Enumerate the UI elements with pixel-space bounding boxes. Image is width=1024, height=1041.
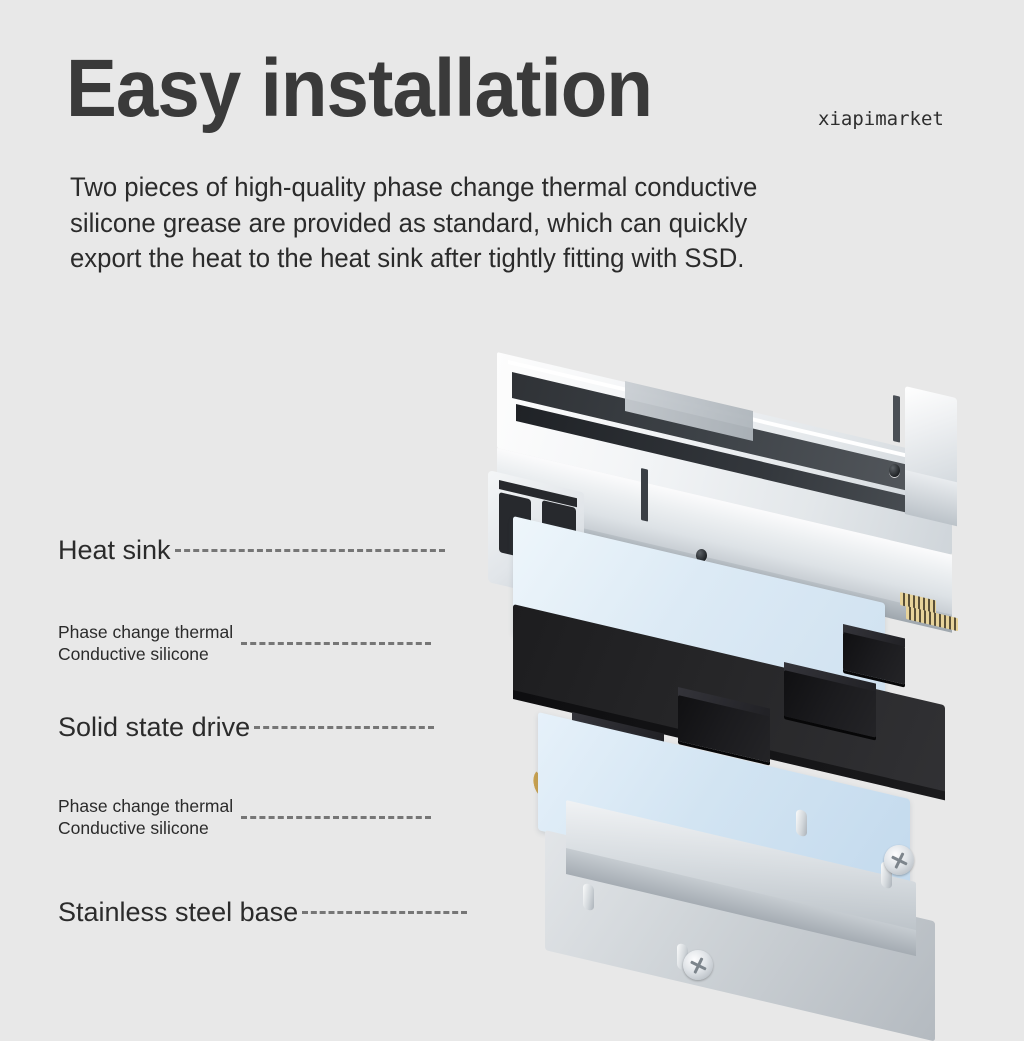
heat-sink-slot xyxy=(641,468,648,522)
base-pin-left xyxy=(583,883,594,912)
callout-label-heat-sink: Heat sink xyxy=(58,535,171,566)
leader-line-steel-base xyxy=(302,911,467,914)
leader-line-heat-sink xyxy=(175,549,445,552)
leader-line-thermal-pad-upper xyxy=(241,642,431,645)
exploded-view-diagram xyxy=(0,0,1024,1024)
infographic-page: Easy installation xiapimarket Two pieces… xyxy=(0,0,1024,1024)
base-screw-front xyxy=(683,950,713,980)
leader-line-thermal-pad-lower xyxy=(241,816,431,819)
callout-label-thermal-pad-upper: Phase change thermal Conductive silicone xyxy=(58,622,233,666)
leader-line-ssd xyxy=(254,726,434,729)
callout-label-lower-line2: Conductive silicone xyxy=(58,818,209,838)
callout-label-upper-line2: Conductive silicone xyxy=(58,644,209,664)
callout-label-lower-line1: Phase change thermal xyxy=(58,796,233,816)
callout-thermal-pad-upper: Phase change thermal Conductive silicone xyxy=(58,622,431,666)
callout-label-thermal-pad-lower: Phase change thermal Conductive silicone xyxy=(58,796,233,840)
callout-ssd: Solid state drive xyxy=(58,712,434,743)
callout-thermal-pad-lower: Phase change thermal Conductive silicone xyxy=(58,796,431,840)
callout-label-steel-base: Stainless steel base xyxy=(58,897,298,928)
callout-label-ssd: Solid state drive xyxy=(58,712,250,743)
base-pin-right xyxy=(796,809,807,838)
heat-sink-screw-hole-right xyxy=(889,464,900,477)
callout-heat-sink: Heat sink xyxy=(58,535,445,566)
callout-label-upper-line1: Phase change thermal xyxy=(58,622,233,642)
callout-steel-base: Stainless steel base xyxy=(58,897,467,928)
heat-sink-clip-slot xyxy=(893,395,900,443)
base-screw-back xyxy=(884,845,914,875)
